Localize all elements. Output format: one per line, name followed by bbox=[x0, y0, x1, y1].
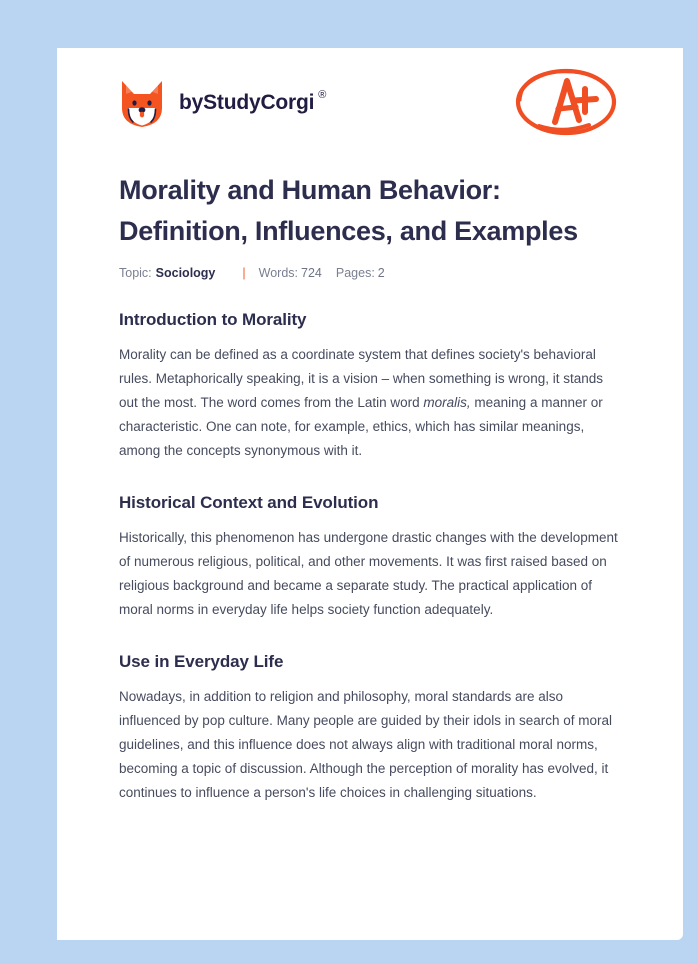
section-heading: Introduction to Morality bbox=[119, 310, 621, 330]
meta-pages: Pages:2 bbox=[336, 266, 385, 280]
brand-prefix: by bbox=[179, 91, 203, 115]
section-paragraph: Morality can be defined as a coordinate … bbox=[119, 343, 621, 463]
section-paragraph: Nowadays, in addition to religion and ph… bbox=[119, 685, 621, 805]
section-heading: Use in Everyday Life bbox=[119, 652, 621, 672]
section-everyday-life: Use in Everyday Life Nowadays, in additi… bbox=[119, 652, 621, 805]
meta-topic-value[interactable]: Sociology bbox=[156, 266, 216, 280]
brand-title: StudyCorgi bbox=[203, 91, 314, 115]
document-header: by StudyCorgi ® bbox=[119, 48, 621, 148]
meta-words: Words:724 bbox=[259, 266, 322, 280]
section-introduction: Introduction to Morality Morality can be… bbox=[119, 310, 621, 463]
meta-pages-label: Pages: bbox=[336, 266, 375, 280]
section-historical-context: Historical Context and Evolution Histori… bbox=[119, 493, 621, 622]
brand-name-text: by StudyCorgi ® bbox=[179, 91, 326, 115]
meta-separator: | bbox=[242, 266, 245, 280]
document-meta: Topic:Sociology | Words:724 Pages:2 bbox=[119, 266, 621, 280]
paragraph-italic-term: moralis, bbox=[423, 395, 470, 410]
meta-topic: Topic:Sociology bbox=[119, 266, 215, 280]
registered-trademark-icon: ® bbox=[318, 89, 326, 101]
meta-pages-value: 2 bbox=[378, 266, 385, 280]
section-paragraph: Historically, this phenomenon has underg… bbox=[119, 526, 621, 622]
meta-words-value: 724 bbox=[301, 266, 322, 280]
document-page: by StudyCorgi ® Morality and Human Behav… bbox=[57, 48, 683, 940]
section-heading: Historical Context and Evolution bbox=[119, 493, 621, 513]
meta-topic-label: Topic: bbox=[119, 266, 152, 280]
corgi-mascot-icon bbox=[119, 78, 165, 128]
a-plus-badge-icon bbox=[511, 63, 621, 143]
page-title: Morality and Human Behavior: Definition,… bbox=[119, 170, 579, 252]
meta-words-label: Words: bbox=[259, 266, 298, 280]
brand-logo[interactable]: by StudyCorgi ® bbox=[119, 78, 326, 128]
